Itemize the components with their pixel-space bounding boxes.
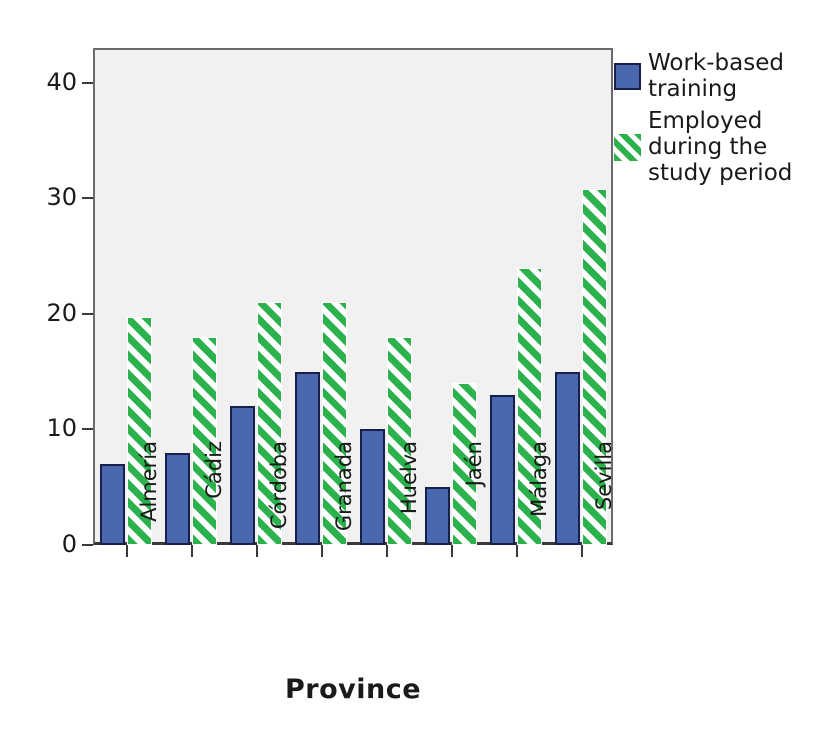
x-tick-label: Almería: [137, 441, 161, 561]
x-tick-line: [126, 545, 128, 557]
y-tick-label: 0: [62, 530, 77, 558]
bar-work-based-training[interactable]: [295, 372, 320, 545]
y-tick-line: [82, 544, 93, 546]
x-tick-label: Córdoba: [267, 441, 291, 561]
chart-legend: Work-based trainingEmployed during the s…: [614, 50, 824, 192]
bar-work-based-training[interactable]: [360, 429, 385, 545]
x-tick-line: [256, 545, 258, 557]
x-tick-label: Granada: [332, 441, 356, 561]
bar-work-based-training[interactable]: [230, 406, 255, 545]
y-tick-line: [82, 428, 93, 430]
x-tick-line: [516, 545, 518, 557]
legend-entry[interactable]: Work-based training: [614, 50, 824, 102]
legend-label: Work-based training: [648, 50, 824, 102]
x-tick-label: Jaén: [462, 441, 486, 561]
bar-work-based-training[interactable]: [100, 464, 125, 545]
legend-label: Employed during the study period: [648, 108, 824, 186]
bar-chart-figure: 010203040 AlmeríaCádizCórdobaGranadaHuel…: [0, 0, 827, 735]
x-tick-line: [451, 545, 453, 557]
y-tick-label: 30: [46, 183, 77, 211]
y-tick-label: 40: [46, 68, 77, 96]
x-tick-label: Cádiz: [202, 441, 226, 561]
bar-work-based-training[interactable]: [425, 487, 450, 545]
x-tick-label: Huelva: [397, 441, 421, 561]
bar-work-based-training[interactable]: [490, 395, 515, 545]
x-tick-line: [386, 545, 388, 557]
x-tick-label: Sevilla: [592, 441, 616, 561]
x-tick-label: Málaga: [527, 441, 551, 561]
x-tick-line: [581, 545, 583, 557]
green-striped-square-icon: [614, 134, 641, 161]
y-tick-line: [82, 197, 93, 199]
bar-work-based-training[interactable]: [555, 372, 580, 545]
y-tick-line: [82, 82, 93, 84]
bar-work-based-training[interactable]: [165, 453, 190, 545]
legend-entry[interactable]: Employed during the study period: [614, 108, 824, 186]
x-tick-line: [321, 545, 323, 557]
y-axis: 010203040: [0, 0, 93, 600]
x-axis-title: Province: [93, 674, 613, 705]
blue-square-icon: [614, 63, 641, 90]
y-tick-label: 10: [46, 414, 77, 442]
y-tick-line: [82, 313, 93, 315]
y-tick-label: 20: [46, 299, 77, 327]
x-tick-line: [191, 545, 193, 557]
